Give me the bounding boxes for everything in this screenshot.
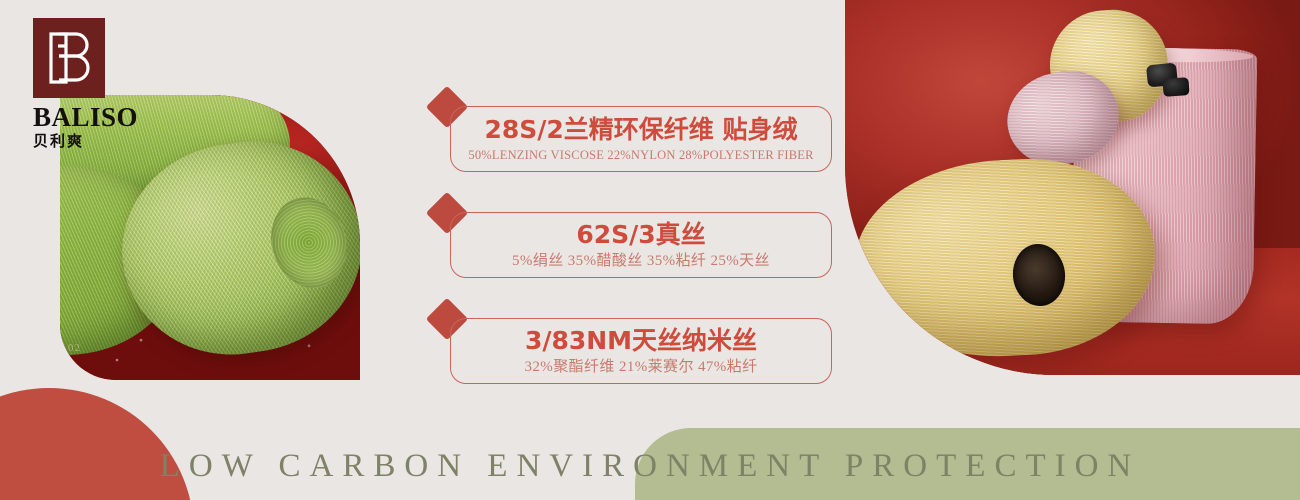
brand-name-chinese: 贝利爽	[33, 134, 119, 149]
promo-banner: 02 BALISO 贝利爽 28S/2兰精环保纤维 贴身绒 50%LENZING…	[0, 0, 1300, 500]
green-yarn-core-hole	[261, 188, 357, 297]
right-product-photo	[845, 0, 1300, 375]
spec-row: 3/83NM天丝纳米丝 32%聚酯纤维 21%莱赛尔 47%粘纤	[432, 300, 832, 394]
spec-title: 62S/3真丝	[576, 222, 705, 247]
spec-card: 62S/3真丝 5%绢丝 35%醋酸丝 35%粘纤 25%天丝	[450, 212, 832, 278]
left-photo-watermark: 02	[68, 342, 81, 354]
spec-row: 62S/3真丝 5%绢丝 35%醋酸丝 35%粘纤 25%天丝	[432, 194, 832, 288]
spec-card: 3/83NM天丝纳米丝 32%聚酯纤维 21%莱赛尔 47%粘纤	[450, 318, 832, 384]
spec-title: 3/83NM天丝纳米丝	[525, 328, 757, 353]
spec-card: 28S/2兰精环保纤维 贴身绒 50%LENZING VISCOSE 22%NY…	[450, 106, 832, 172]
spec-list: 28S/2兰精环保纤维 贴身绒 50%LENZING VISCOSE 22%NY…	[432, 88, 832, 406]
black-cone-cap-secondary-icon	[1162, 77, 1189, 97]
tagline-text: LOW CARBON ENVIRONMENT PROTECTION	[0, 440, 1300, 492]
spec-subtitle: 50%LENZING VISCOSE 22%NYLON 28%POLYESTER…	[468, 149, 813, 162]
spec-title: 28S/2兰精环保纤维 贴身绒	[484, 117, 797, 142]
spec-subtitle: 32%聚酯纤维 21%莱赛尔 47%粘纤	[525, 360, 758, 375]
baliso-monogram-icon	[33, 18, 105, 98]
spec-row: 28S/2兰精环保纤维 贴身绒 50%LENZING VISCOSE 22%NY…	[432, 88, 832, 182]
spec-subtitle: 5%绢丝 35%醋酸丝 35%粘纤 25%天丝	[512, 254, 770, 269]
brand-name-english: BALISO	[33, 104, 119, 131]
brand-logo: BALISO 贝利爽	[33, 18, 119, 149]
